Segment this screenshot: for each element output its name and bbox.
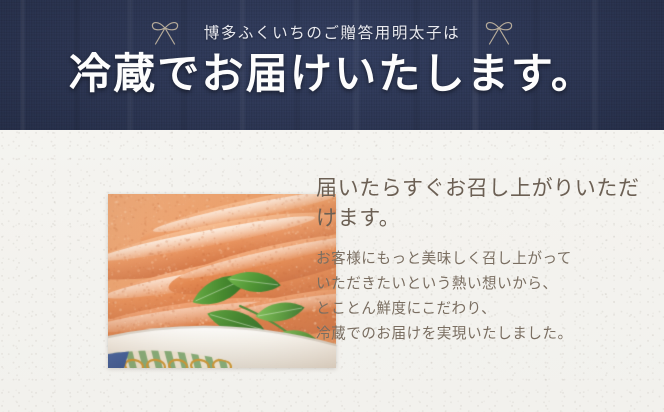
body-paragraph-line: 冷蔵でのお届けを実現いたしました。 [316, 322, 646, 347]
promo-banner: 博多ふくいちのご贈答用明太子は 冷蔵でお届けいたします。 届いたらすぐお召し上が… [0, 0, 664, 412]
hero-headline: 冷蔵でお届けいたします。 [69, 51, 595, 101]
mentaiko-photo-image [108, 194, 336, 368]
mizuhiki-bow-left-icon [144, 17, 186, 47]
body-paragraph-line: お客様にもっと美味しく召し上がって [316, 247, 646, 272]
hero-content: 博多ふくいちのご贈答用明太子は 冷蔵でお届けいたします。 [0, 0, 664, 130]
body-paragraph-line: とことん鮮度にこだわり、 [316, 297, 646, 322]
body-paragraph: お客様にもっと美味しく召し上がっていただきたいという熱い想いから、とことん鮮度に… [316, 247, 646, 347]
mizuhiki-bow-right-icon [478, 17, 520, 47]
hero-subtitle: 博多ふくいちのご贈答用明太子は [204, 21, 461, 43]
product-photo [108, 194, 336, 368]
hero-banner: 博多ふくいちのご贈答用明太子は 冷蔵でお届けいたします。 [0, 0, 664, 130]
hero-subtitle-row: 博多ふくいちのご贈答用明太子は [144, 17, 521, 47]
body-heading: 届いたらすぐお召し上がりいただけます。 [316, 174, 646, 234]
text-column: 届いたらすぐお召し上がりいただけます。 お客様にもっと美味しく召し上がっていただ… [316, 174, 646, 347]
content-section: 届いたらすぐお召し上がりいただけます。 お客様にもっと美味しく召し上がっていただ… [0, 130, 664, 412]
body-paragraph-line: いただきたいという熱い想いから、 [316, 272, 646, 297]
